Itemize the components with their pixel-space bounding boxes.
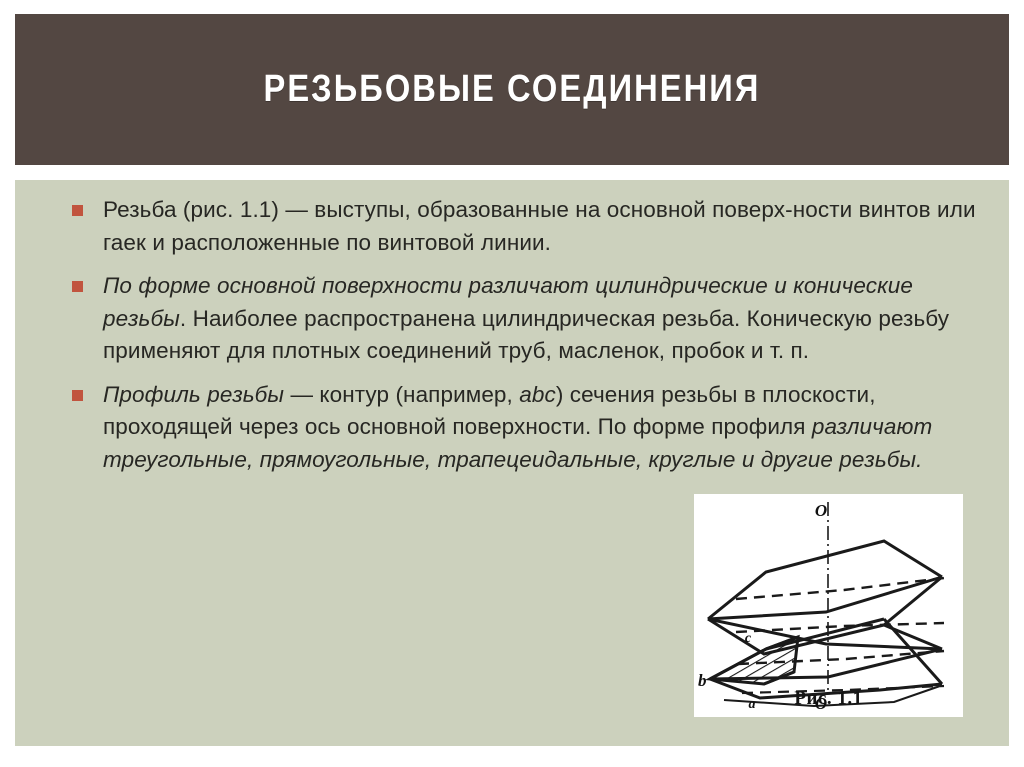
bullet-1-segment-1: Резьба (рис. 1.1) — выступы, образованны… bbox=[103, 197, 976, 255]
bullet-3-segment-1: Профиль резьбы bbox=[103, 382, 284, 407]
slide: РЕЗЬБОВЫЕ СОЕДИНЕНИЯ Резьба (рис. 1.1) —… bbox=[0, 0, 1024, 767]
figure-label-axis-top: O bbox=[815, 501, 827, 520]
bullet-text-3: Профиль резьбы — контур (например, abc) … bbox=[103, 379, 988, 477]
slide-body-panel: Резьба (рис. 1.1) — выступы, образованны… bbox=[15, 180, 1009, 746]
bullet-list: Резьба (рис. 1.1) — выступы, образованны… bbox=[58, 194, 988, 487]
page-title: РЕЗЬБОВЫЕ СОЕДИНЕНИЯ bbox=[264, 68, 761, 111]
thread-profile-drawing: O O b c a bbox=[694, 494, 963, 717]
bullet-3-segment-3: abc bbox=[519, 382, 556, 407]
list-item: По форме основной поверхности различают … bbox=[58, 270, 988, 368]
square-bullet-icon bbox=[72, 281, 83, 292]
figure-label-c: c bbox=[745, 631, 752, 646]
bullet-text-2: По форме основной поверхности различают … bbox=[103, 270, 988, 368]
bullet-3-segment-2: — контур (например, bbox=[284, 382, 519, 407]
figure-caption: Рис. 1.1 bbox=[694, 688, 963, 710]
bullet-text-1: Резьба (рис. 1.1) — выступы, образованны… bbox=[103, 194, 988, 259]
slide-title-band: РЕЗЬБОВЫЕ СОЕДИНЕНИЯ bbox=[15, 14, 1009, 165]
crest-top-hidden bbox=[736, 578, 944, 599]
square-bullet-icon bbox=[72, 205, 83, 216]
square-bullet-icon bbox=[72, 390, 83, 401]
list-item: Резьба (рис. 1.1) — выступы, образованны… bbox=[58, 194, 988, 259]
figure-thread-profile: O O b c a Рис. 1.1 bbox=[694, 494, 963, 717]
bullet-2-segment-2: . Наиболее распространена цилиндрическая… bbox=[103, 306, 949, 364]
list-item: Профиль резьбы — контур (например, abc) … bbox=[58, 379, 988, 477]
